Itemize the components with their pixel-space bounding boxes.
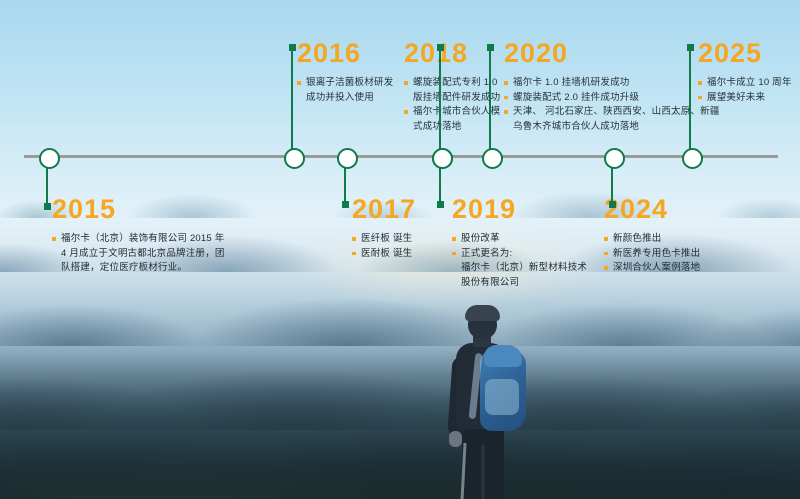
- timeline-entry-2019[interactable]: 2019股份改革正式更名为:福尔卡（北京）新型材料技术股份有限公司: [452, 196, 587, 290]
- timeline-bullet-item: 福尔卡成立 10 周年: [698, 76, 792, 91]
- timeline-stem-cap-2015: [44, 203, 51, 210]
- timeline-node-2016[interactable]: [284, 148, 305, 169]
- hiker-hat: [465, 305, 500, 321]
- timeline-entry-2025[interactable]: 2025福尔卡成立 10 周年展望美好未来: [698, 40, 792, 105]
- timeline-stem-cap-2017: [342, 201, 349, 208]
- timeline-bullet-list: 股份改革正式更名为:福尔卡（北京）新型材料技术股份有限公司: [452, 232, 587, 290]
- timeline-stem-2020: [489, 47, 492, 155]
- timeline-node-2020[interactable]: [482, 148, 503, 169]
- timeline-year-label: 2024: [604, 196, 700, 223]
- timeline-node-2019[interactable]: [432, 148, 453, 169]
- timeline-node-2017[interactable]: [337, 148, 358, 169]
- timeline-year-label: 2025: [698, 40, 792, 67]
- timeline-bullet-item: 福尔卡城市合伙人模: [404, 105, 500, 120]
- timeline-bullet-continuation: 4 月成立于文明古都北京品牌注册，团: [52, 247, 225, 262]
- timeline-year-label: 2017: [352, 196, 416, 223]
- timeline-bullet-item: 深圳合伙人案例落地: [604, 261, 700, 276]
- timeline-bullet-item: 螺旋装配式 2.0 挂件成功升级: [504, 91, 720, 106]
- timeline-year-label: 2015: [52, 196, 225, 223]
- timeline-stem-2025: [689, 47, 692, 155]
- timeline-bullet-item: 天津、 河北石家庄、陕西西安、山西太原、新疆: [504, 105, 720, 120]
- timeline-bullet-continuation: 成功并投入使用: [297, 91, 393, 106]
- hiker-backpack-panel: [485, 379, 519, 415]
- timeline-bullet-item: 新颜色推出: [604, 232, 700, 247]
- timeline-stem-cap-2018: [437, 44, 444, 51]
- hiker-leg-gap: [481, 445, 485, 499]
- timeline-year-label: 2019: [452, 196, 587, 223]
- timeline-bullet-item: 医纤板 诞生: [352, 232, 416, 247]
- timeline-year-label: 2016: [297, 40, 393, 67]
- foreground-slope: [0, 349, 800, 499]
- timeline-bullet-list: 福尔卡 1.0 挂墙机研发成功螺旋装配式 2.0 挂件成功升级天津、 河北石家庄…: [504, 76, 720, 134]
- timeline-bullet-list: 银离子洁菌板材研发成功并投入使用: [297, 76, 393, 105]
- hiker-backpack-lid: [484, 345, 522, 367]
- timeline-stem-cap-2024: [609, 201, 616, 208]
- timeline-bullet-item: 银离子洁菌板材研发: [297, 76, 393, 91]
- timeline-bullet-list: 医纤板 诞生医耐板 诞生: [352, 232, 416, 261]
- timeline-entry-2024[interactable]: 2024新颜色推出新医养专用色卡推出深圳合伙人案例落地: [604, 196, 700, 276]
- timeline-stem-2018: [439, 47, 442, 155]
- timeline-bullet-item: 医耐板 诞生: [352, 247, 416, 262]
- timeline-entry-2020[interactable]: 2020福尔卡 1.0 挂墙机研发成功螺旋装配式 2.0 挂件成功升级天津、 河…: [504, 40, 720, 134]
- timeline-bullet-item: 正式更名为:: [452, 247, 587, 262]
- timeline-entry-2015[interactable]: 2015福尔卡（北京）装饰有限公司 2015 年4 月成立于文明古都北京品牌注册…: [52, 196, 225, 276]
- timeline-bullet-continuation: 福尔卡（北京）新型材料技术: [452, 261, 587, 276]
- timeline-axis: [24, 155, 778, 158]
- timeline-node-2015[interactable]: [39, 148, 60, 169]
- timeline-node-2025[interactable]: [682, 148, 703, 169]
- timeline-bullet-list: 新颜色推出新医养专用色卡推出深圳合伙人案例落地: [604, 232, 700, 276]
- timeline-bullet-item: 福尔卡 1.0 挂墙机研发成功: [504, 76, 720, 91]
- timeline-infographic: 2015福尔卡（北京）装饰有限公司 2015 年4 月成立于文明古都北京品牌注册…: [0, 0, 800, 499]
- timeline-stem-cap-2020: [487, 44, 494, 51]
- timeline-bullet-continuation: 式成功落地: [404, 120, 500, 135]
- timeline-bullet-continuation: 股份有限公司: [452, 276, 587, 291]
- timeline-stem-2016: [291, 47, 294, 155]
- timeline-bullet-item: 展望美好未来: [698, 91, 792, 106]
- timeline-bullet-item: 股份改革: [452, 232, 587, 247]
- timeline-bullet-item: 新医养专用色卡推出: [604, 247, 700, 262]
- timeline-bullet-continuation: 版挂墙配件研发成功: [404, 91, 500, 106]
- timeline-bullet-list: 福尔卡（北京）装饰有限公司 2015 年4 月成立于文明古都北京品牌注册，团队搭…: [52, 232, 225, 276]
- timeline-entry-2017[interactable]: 2017医纤板 诞生医耐板 诞生: [352, 196, 416, 261]
- timeline-node-2024[interactable]: [604, 148, 625, 169]
- timeline-bullet-list: 螺旋装配式专利 1.0版挂墙配件研发成功福尔卡城市合伙人模式成功落地: [404, 76, 500, 134]
- timeline-stem-cap-2025: [687, 44, 694, 51]
- timeline-entry-2018[interactable]: 2018螺旋装配式专利 1.0版挂墙配件研发成功福尔卡城市合伙人模式成功落地: [404, 40, 500, 134]
- hiker-figure: [432, 305, 552, 499]
- timeline-entry-2016[interactable]: 2016银离子洁菌板材研发成功并投入使用: [297, 40, 393, 105]
- timeline-bullet-item: 福尔卡（北京）装饰有限公司 2015 年: [52, 232, 225, 247]
- timeline-stem-cap-2016: [289, 44, 296, 51]
- timeline-bullet-list: 福尔卡成立 10 周年展望美好未来: [698, 76, 792, 105]
- timeline-stem-cap-2019: [437, 201, 444, 208]
- timeline-bullet-continuation: 队搭建，定位医疗板材行业。: [52, 261, 225, 276]
- timeline-bullet-item: 螺旋装配式专利 1.0: [404, 76, 500, 91]
- timeline-bullet-continuation: 乌鲁木齐城市合伙人成功落地: [504, 120, 720, 135]
- hiker-hand: [449, 431, 462, 447]
